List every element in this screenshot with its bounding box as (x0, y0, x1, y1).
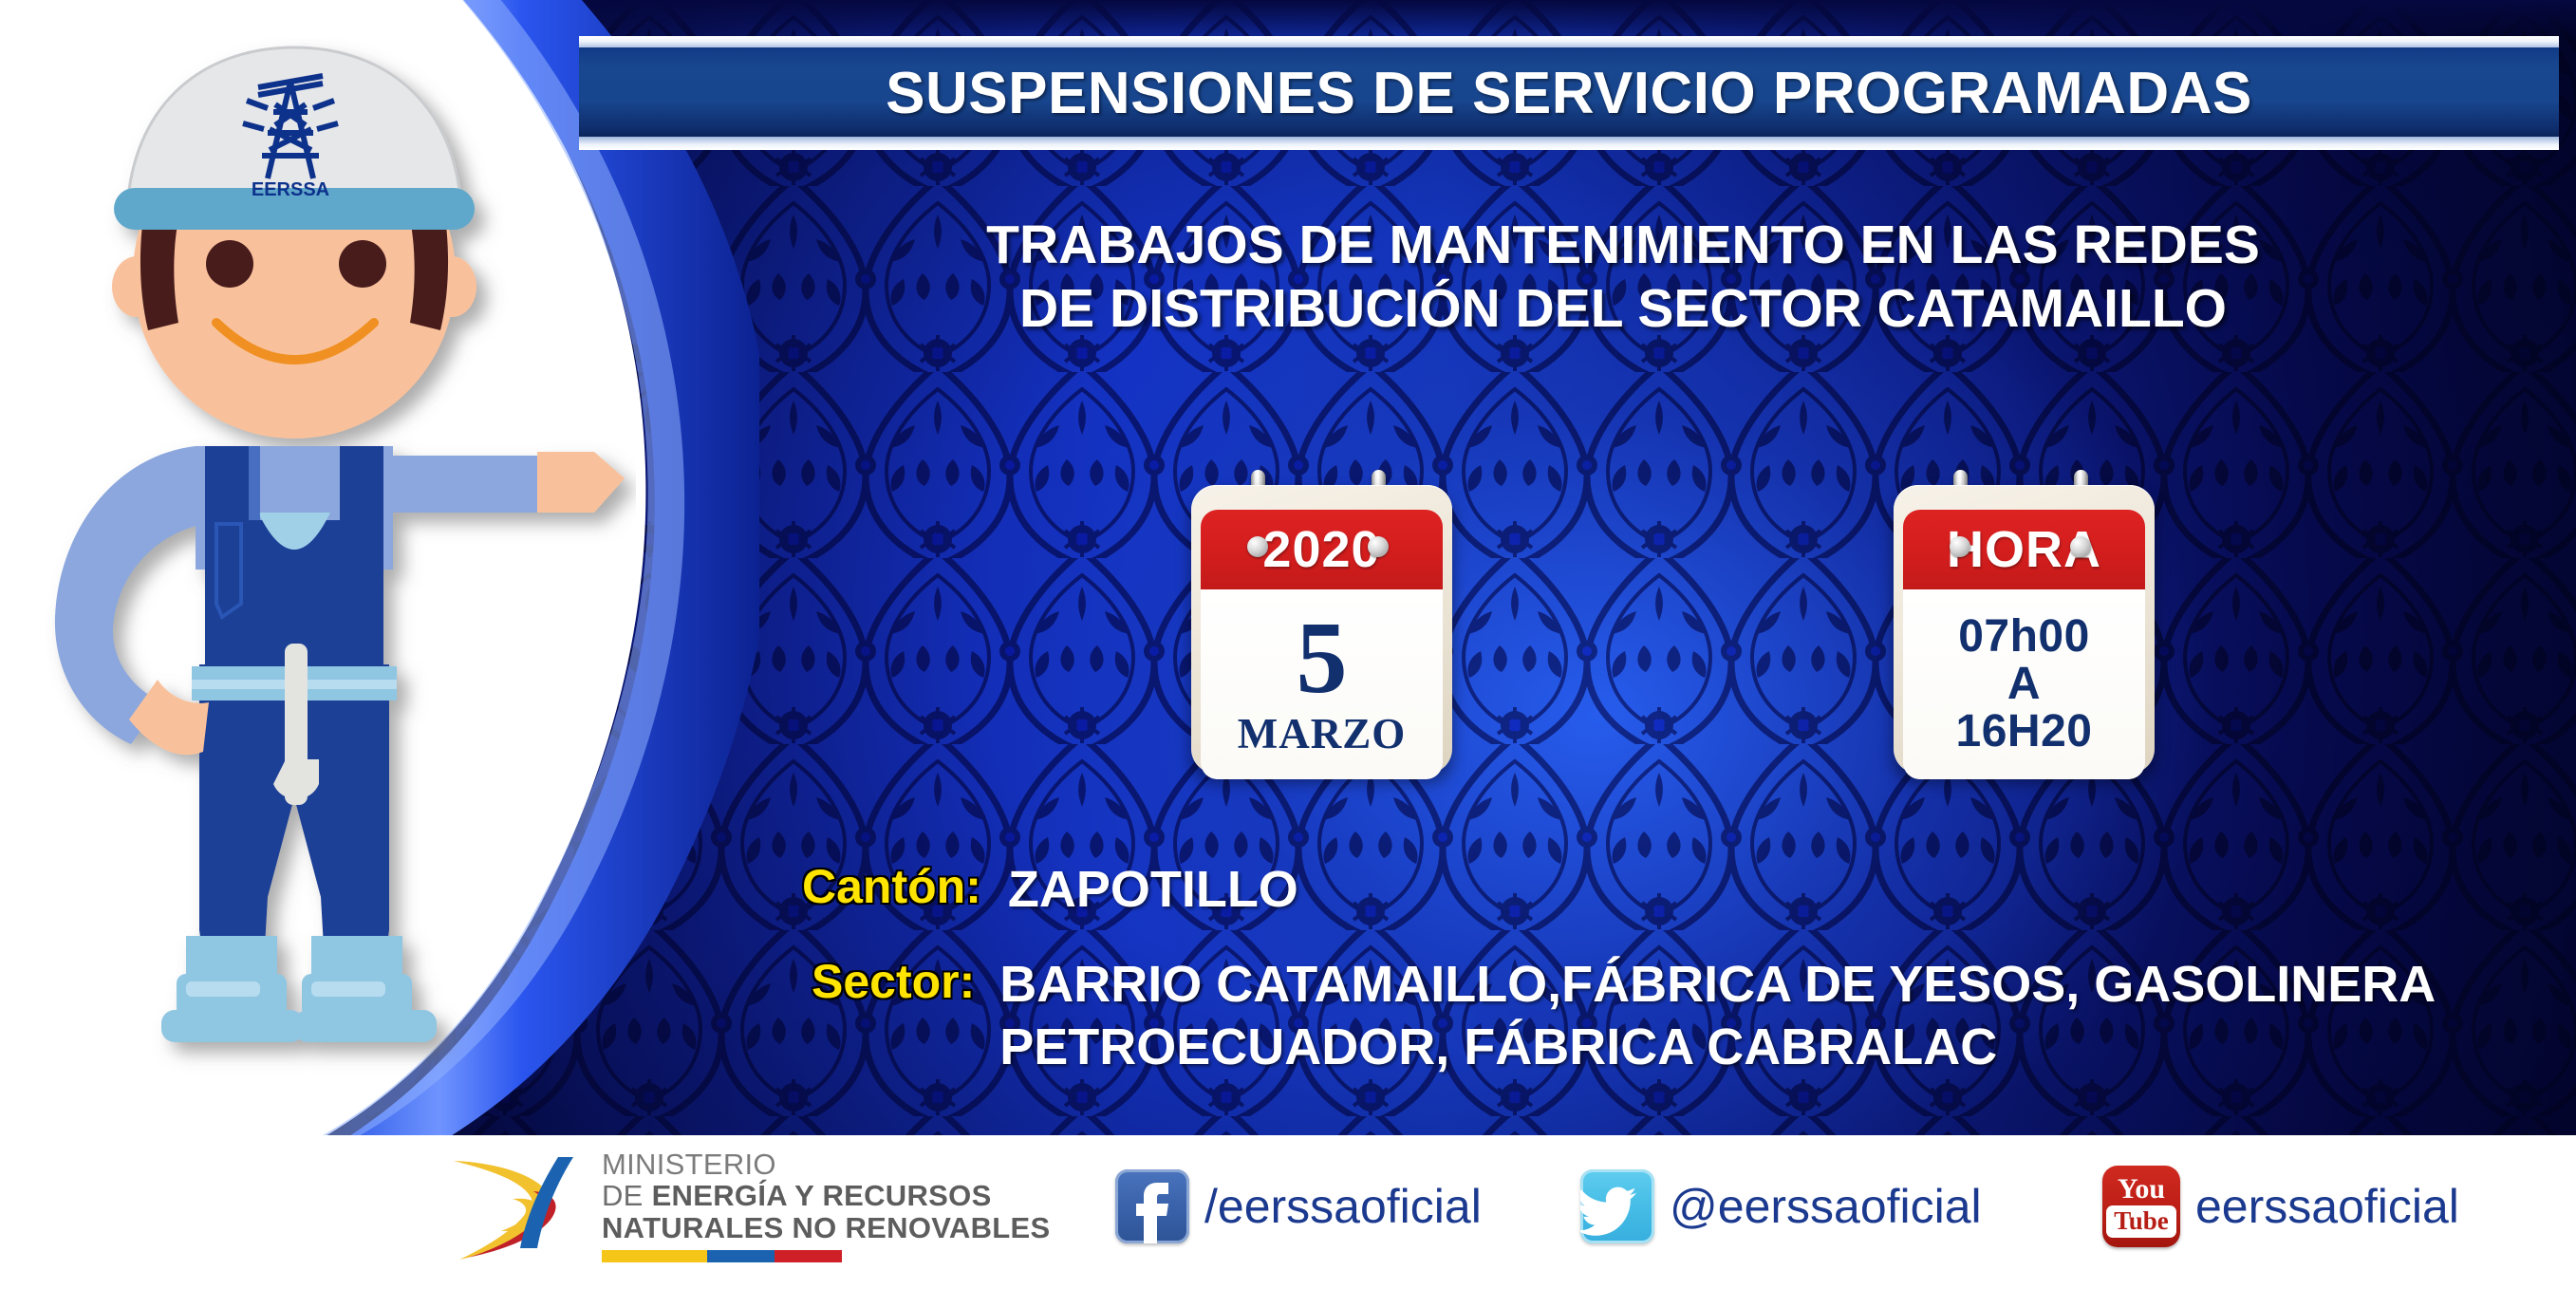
date-card-header: 2020 (1201, 510, 1443, 589)
flag-red (775, 1250, 842, 1262)
canton-row: Cantón: ZAPOTILLO (802, 859, 1298, 922)
hour-card-body: 07h00 A 16H20 (1903, 589, 2145, 779)
ministry-line-2-light: DE (602, 1179, 652, 1212)
title-banner-bottom-edge (579, 137, 2559, 150)
youtube-handle[interactable]: eerssaoficial (2195, 1179, 2459, 1234)
title-banner: SUSPENSIONES DE SERVICIO PROGRAMADAS (579, 36, 2559, 150)
canton-label: Cantón: (802, 859, 981, 914)
hour-ring-cap-left (1950, 536, 1970, 557)
hour-card-inner: HORA 07h00 A 16H20 (1903, 510, 2145, 779)
ministry-line-1: MINISTERIO (602, 1149, 1051, 1180)
left-white-panel: EERSSA (0, 0, 759, 1153)
mascot-worker: EERSSA (9, 38, 636, 1120)
date-calendar-card: 2020 5 MARZO (1191, 470, 1452, 774)
flag-blue (707, 1250, 775, 1262)
ecuador-flag-bar (602, 1250, 842, 1262)
hour-start: 07h00 (1958, 613, 2090, 661)
hour-calendar-card: HORA 07h00 A 16H20 (1894, 470, 2155, 774)
canton-value: ZAPOTILLO (1008, 859, 1298, 922)
subtitle-block: TRABAJOS DE MANTENIMIENTO EN LAS REDES D… (721, 214, 2525, 340)
sector-value-line-1: BARRIO CATAMAILLO,FÁBRICA DE YESOS, GASO… (999, 954, 2436, 1017)
ministry-swoosh-icon (446, 1144, 588, 1267)
twitter-link[interactable]: @eerssaoficial (1580, 1169, 1982, 1243)
hour-card-header: HORA (1903, 510, 2145, 589)
hour-ring-cap-right (2070, 536, 2091, 557)
twitter-handle[interactable]: @eerssaoficial (1670, 1179, 1982, 1234)
youtube-icon[interactable]: You Tube (2102, 1166, 2180, 1247)
sector-value-line-2: PETROECUADOR, FÁBRICA CABRALAC (999, 1017, 2436, 1079)
sector-row: Sector: BARRIO CATAMAILLO,FÁBRICA DE YES… (812, 954, 2558, 1079)
ministry-text-block: MINISTERIO DE ENERGÍA Y RECURSOS NATURAL… (602, 1149, 1051, 1262)
ministry-logo: MINISTERIO DE ENERGÍA Y RECURSOS NATURAL… (446, 1144, 1051, 1267)
date-card-day: 5 (1297, 610, 1348, 708)
youtube-link[interactable]: You Tube eerssaoficial (2102, 1166, 2459, 1247)
hour-end: 16H20 (1956, 708, 2093, 756)
ministry-line-3: NATURALES NO RENOVABLES (602, 1212, 1051, 1243)
facebook-handle[interactable]: /eerssaoficial (1204, 1179, 1482, 1234)
date-card-inner: 2020 5 MARZO (1201, 510, 1443, 779)
helmet-logo-text: EERSSA (252, 179, 329, 200)
facebook-link[interactable]: /eerssaoficial (1115, 1169, 1482, 1243)
calendar-ring-cap-left (1247, 536, 1268, 557)
hour-card-frame: HORA 07h00 A 16H20 (1894, 485, 2155, 774)
date-card-body: 5 MARZO (1201, 589, 1443, 779)
subtitle-line-2: DE DISTRIBUCIÓN DEL SECTOR CATAMAILLO (721, 277, 2525, 341)
poster-root: EERSSA SUSPENSIONES DE SERVICIO PROGRAMA… (0, 0, 2576, 1289)
date-card-month: MARZO (1238, 709, 1407, 758)
youtube-you-text: You (2118, 1175, 2165, 1204)
facebook-icon[interactable] (1115, 1169, 1189, 1243)
youtube-tube-text: Tube (2106, 1205, 2176, 1238)
flag-yellow (602, 1250, 707, 1262)
page-title: SUSPENSIONES DE SERVICIO PROGRAMADAS (579, 47, 2559, 139)
subtitle-line-1: TRABAJOS DE MANTENIMIENTO EN LAS REDES (721, 214, 2525, 277)
sector-label: Sector: (812, 954, 975, 1009)
date-card-frame: 2020 5 MARZO (1191, 485, 1452, 774)
calendar-ring-cap-right (1368, 536, 1389, 557)
hour-separator: A (2007, 661, 2041, 708)
sector-value: BARRIO CATAMAILLO,FÁBRICA DE YESOS, GASO… (999, 954, 2436, 1079)
date-card-year: 2020 (1262, 520, 1380, 579)
ministry-line-2-bold: ENERGÍA Y RECURSOS (652, 1179, 992, 1212)
ministry-line-2: DE ENERGÍA Y RECURSOS (602, 1180, 1051, 1211)
twitter-icon[interactable] (1580, 1169, 1654, 1243)
